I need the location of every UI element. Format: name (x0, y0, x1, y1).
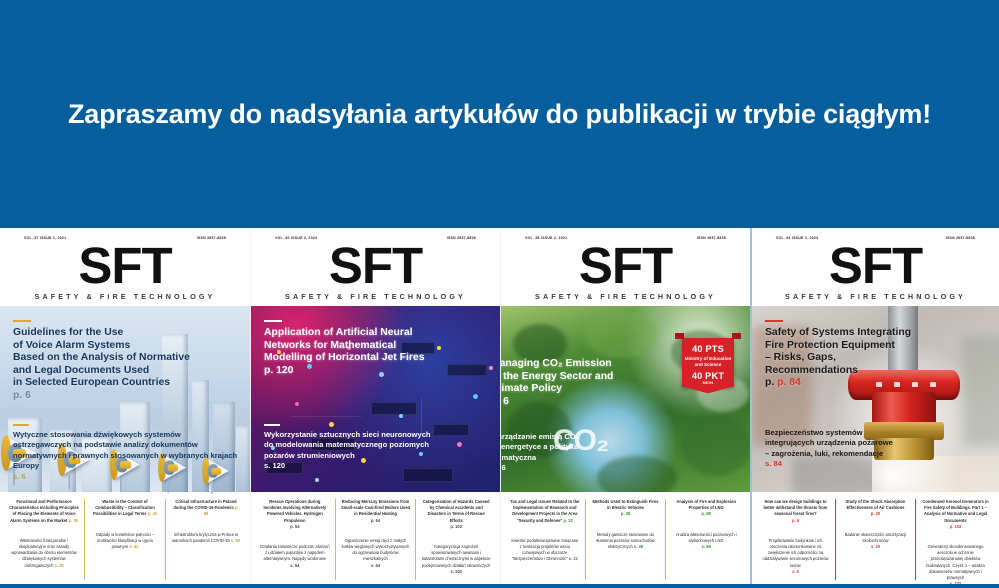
title-page-en: p. 6 (13, 390, 31, 401)
promo-headline: Zapraszamy do nadsyłania artykułów do pu… (68, 99, 931, 130)
title-line: Based on the Analysis of Normative (13, 352, 190, 363)
article-title-en: Critical Infrastructure in Poland during… (173, 499, 236, 510)
cover-hero: CO₂ 40 PTS Ministry of Education and Sci… (501, 306, 750, 494)
cover-article-list: Functional and Performance Characteristi… (0, 492, 250, 584)
article-title-pl: Generatory skondensowanego aerozolu w oc… (926, 544, 984, 580)
subtitle-page-pl: s. 84 (765, 459, 782, 468)
issn-label: ISSN 2657-8808 (697, 236, 726, 240)
cover-title-pl: Wytyczne stosowania dźwiękowych systemów… (13, 424, 250, 482)
volume-label: VOL. 58 ISSUE 2, 2021 (525, 236, 567, 240)
badge-points-pl: 40 PKT (684, 371, 732, 381)
badge-points-en: 40 PTS (684, 344, 732, 354)
title-line: Recommendations (765, 365, 858, 376)
article-entry[interactable]: How can we design buildings to better wi… (756, 499, 835, 580)
article-entry[interactable]: Condensed Aerosol Generators in Fire Saf… (915, 499, 995, 580)
title-page-en: p. 120 (264, 365, 293, 376)
article-title-pl: Projektowanie budynków i ich otoczenia u… (763, 538, 829, 568)
title-line: Application of Artificial Neural (264, 327, 413, 338)
subtitle-line: ostrzegawczych na podstawie analizy doku… (13, 440, 198, 449)
accent-tick-icon (264, 320, 282, 322)
article-title-en: Methods Used to Extinguish Fires in Elec… (593, 499, 659, 510)
subtitle-line: do modelowania matematycznego poziomych (264, 440, 429, 449)
sft-tagline: SAFETY & FIRE TECHNOLOGY (251, 292, 500, 301)
subtitle-line: Zarządzanie emisją CO₂ (501, 432, 579, 441)
cover-hero: Safety of Systems Integrating Fire Prote… (752, 306, 999, 494)
article-entry[interactable]: Methods Used to Extinguish Fires in Elec… (585, 499, 666, 580)
issn-label: ISSN 2657-8808 (946, 236, 975, 240)
subtitle-line: Wytyczne stosowania dźwiękowych systemów (13, 430, 181, 439)
sft-tagline: SAFETY & FIRE TECHNOLOGY (752, 292, 999, 301)
subtitle-line: normatywnych i prawnych stosowanych w wy… (13, 451, 237, 470)
subtitle-page-pl: s. 6 (501, 463, 506, 472)
badge-authority-pl: MEiN (684, 381, 732, 385)
article-title-en: Categorisation of Hazards Caused by Chem… (423, 499, 490, 523)
accent-tick-icon (13, 424, 29, 426)
ribbon-flag-left-icon (675, 333, 684, 339)
volume-label: VOL. 57 ISSUE 1, 2021 (24, 236, 66, 240)
magazine-cover-voice-alarm[interactable]: VOL. 57 ISSUE 1, 2021 ISSN 2657-8808 SFT… (0, 228, 250, 584)
article-entry[interactable]: Waste in the Context of Combustibility –… (84, 499, 165, 580)
article-page-en: p. 64 (371, 518, 380, 523)
accent-tick-icon (765, 320, 783, 322)
magazine-cover-fire-protection[interactable]: VOL. 64 ISSUE 2, 2024 ISSN 2657-8808 SFT… (750, 228, 999, 584)
magazine-cover-co2-emission[interactable]: VOL. 58 ISSUE 2, 2021 ISSN 2657-8808 SFT… (500, 228, 750, 584)
cover-title-pl: Wykorzystanie sztucznych sieci neuronowy… (264, 424, 431, 472)
badge-authority-en: Ministry of Education and Science (684, 356, 732, 367)
article-title-pl: Badanie skuteczności amortyzacji skokoch… (845, 532, 906, 543)
article-page-pl: s. 102 (450, 569, 461, 574)
article-page-pl: s. 22 (569, 556, 578, 561)
article-title-en: Study of the Shock Absorption Effectiven… (846, 499, 906, 510)
sft-tagline: SAFETY & FIRE TECHNOLOGY (501, 292, 750, 301)
article-page-en: p. 102 (450, 524, 462, 529)
masthead: VOL. 57 ISSUE 1, 2021 ISSN 2657-8808 SFT… (0, 228, 250, 306)
cover-title-en: Managing CO₂ Emission in the Energy Sect… (501, 358, 613, 408)
cover-hero: Guidelines for the Use of Voice Alarm Sy… (0, 306, 250, 494)
sft-logo: SFT (251, 241, 500, 291)
article-title-en: Reducing Mercury Emissions from Small-sc… (341, 499, 410, 516)
article-page-en: p. 102 (950, 524, 962, 529)
magazine-cover-strip: VOL. 57 ISSUE 1, 2021 ISSN 2657-8808 SFT… (0, 228, 999, 584)
article-title-pl: Właściwości funkcjonalne i eksploatacyjn… (11, 538, 77, 568)
cover-hero: Application of Artificial Neural Network… (251, 306, 500, 494)
ministry-points-badge: 40 PTS Ministry of Education and Science… (682, 338, 734, 387)
cover-title-en: Guidelines for the Use of Voice Alarm Sy… (13, 320, 190, 403)
article-page-pl: s. 58 (702, 544, 711, 549)
subtitle-page-pl: s. 6 (13, 472, 26, 481)
article-entry[interactable]: Rescue Operations during Incidents Invol… (255, 499, 335, 580)
article-page-pl: s. 38 (634, 544, 643, 549)
article-entry[interactable]: Study of the Shock Absorption Effectiven… (835, 499, 915, 580)
accent-tick-icon (13, 320, 31, 322)
cover-title-en: Application of Artificial Neural Network… (264, 320, 425, 377)
title-page-en: p. 6 (501, 396, 509, 407)
cover-title-pl: Zarządzanie emisją CO₂ w energetyce a po… (501, 432, 579, 474)
article-entry[interactable]: Tax and Legal Issues Related to the Impl… (505, 499, 585, 580)
subtitle-line: pożarów strumieniowych (264, 451, 355, 460)
title-line: Networks for Mathematical (264, 340, 396, 351)
article-title-en: Condensed Aerosol Generators in Fire Saf… (922, 499, 988, 523)
cover-article-list: Tax and Legal Issues Related to the Impl… (501, 492, 750, 584)
article-entry[interactable]: Categorisation of Hazards Caused by Chem… (415, 499, 496, 580)
title-line: in the Energy Sector and (501, 371, 613, 382)
article-page-en: p. 20 (871, 511, 880, 516)
cover-title-pl: Bezpieczeństwo systemów integrujących ur… (765, 428, 893, 470)
title-page-en: p. 84 (777, 377, 801, 388)
article-title-en: Analysis of Fire and Explosion Propertie… (676, 499, 736, 510)
title-line: Climate Policy (501, 383, 562, 394)
article-page-pl: s. 26 (55, 563, 64, 568)
article-page-en: p. 26 (69, 518, 78, 523)
article-page-en: p. 22 (564, 518, 573, 523)
article-page-pl: s. 64 (371, 563, 380, 568)
subtitle-line: Bezpieczeństwo systemów (765, 428, 862, 437)
volume-label: VOL. 64 ISSUE 2, 2024 (776, 236, 818, 240)
masthead: VOL. 64 ISSUE 2, 2024 ISSN 2657-8808 SFT… (752, 228, 999, 306)
article-entry[interactable]: Critical Infrastructure in Poland during… (165, 499, 246, 580)
title-line: in Selected European Countries (13, 377, 170, 388)
title-line: – Risks, Gaps, (765, 352, 836, 363)
subtitle-line: – zagrożenia, luki, rekomendacje (765, 449, 883, 458)
article-entry[interactable]: Reducing Mercury Emissions from Small-sc… (335, 499, 416, 580)
article-entry[interactable]: Analysis of Fire and Explosion Propertie… (665, 499, 746, 580)
cover-article-list: How can we design buildings to better wi… (752, 492, 999, 584)
article-page-pl: s. 6 (792, 569, 799, 574)
article-title-pl: Odpady w kontekście palności – możliwośc… (96, 532, 154, 549)
issn-label: ISSN 2657-8808 (447, 236, 476, 240)
sft-tagline: SAFETY & FIRE TECHNOLOGY (0, 292, 250, 301)
page-root: Zapraszamy do nadsyłania artykułów do pu… (0, 0, 999, 588)
article-page-en: p. 38 (621, 511, 630, 516)
subtitle-page-pl: s. 120 (264, 461, 285, 470)
masthead: VOL. 60 ISSUE 2, 2023 ISSN 2657-8808 SFT… (251, 228, 500, 306)
title-line: Managing CO₂ Emission (501, 358, 612, 369)
article-title-en: How can we design buildings to better wi… (764, 499, 828, 516)
title-line: Safety of Systems Integrating (765, 327, 911, 338)
article-page-en: p. 58 (702, 511, 711, 516)
article-title-pl: Analiza właściwości pożarowych i wybucho… (676, 532, 737, 543)
title-line: and Legal Documents Used (13, 365, 149, 376)
article-title-pl: Działania ratownicze podczas zdarzeń z u… (260, 544, 330, 561)
article-page-pl: s. 20 (871, 544, 880, 549)
cover-title-en: Safety of Systems Integrating Fire Prote… (765, 320, 911, 390)
volume-label: VOL. 60 ISSUE 2, 2023 (275, 236, 317, 240)
subtitle-line: integrujących urządzenia pożarowe (765, 438, 893, 447)
subtitle-line: klimatyczna (501, 453, 536, 462)
article-page-pl: s. 59 (231, 538, 240, 543)
article-title-en: Rescue Operations during Incidents Invol… (264, 499, 327, 523)
article-title-pl: Infrastruktura krytyczna w Polsce w waru… (172, 532, 238, 543)
magazine-cover-neural-networks[interactable]: VOL. 60 ISSUE 2, 2023 ISSN 2657-8808 SFT… (250, 228, 500, 584)
sft-logo: SFT (501, 241, 750, 291)
title-line: Fire Protection Equipment (765, 340, 895, 351)
article-page-en: p. 42 (148, 511, 157, 516)
article-title-pl: Ograniczenie emisji rtęci z małych kotłó… (342, 538, 410, 562)
bottom-accent-rule (0, 584, 999, 588)
article-page-pl: s. 42 (129, 544, 138, 549)
accent-tick-icon (264, 424, 280, 426)
article-page-en: p. 6 (792, 518, 799, 523)
title-line: of Voice Alarm Systems (13, 340, 130, 351)
article-title-en: Waste in the Context of Combustibility –… (93, 499, 155, 516)
subtitle-line: w energetyce a polityka (501, 442, 578, 451)
masthead: VOL. 58 ISSUE 2, 2021 ISSN 2657-8808 SFT… (501, 228, 750, 306)
cover-article-list: Rescue Operations during Incidents Invol… (251, 492, 500, 584)
promo-banner: Zapraszamy do nadsyłania artykułów do pu… (0, 0, 999, 228)
sft-logo: SFT (0, 241, 250, 291)
issn-label: ISSN 2657-8808 (197, 236, 226, 240)
title-line: Guidelines for the Use (13, 327, 123, 338)
article-entry[interactable]: Functional and Performance Characteristi… (4, 499, 84, 580)
article-page-pl: s. 54 (290, 563, 299, 568)
title-line: Modelling of Horizontal Jet Fires (264, 352, 425, 363)
sft-logo: SFT (752, 241, 999, 291)
article-title-pl: Kategoryzacja zagrożeń spowodowanych awa… (422, 544, 491, 568)
article-title-pl: Metody gaśnicze stosowane do tłumienia p… (596, 532, 654, 549)
article-page-en: p. 54 (290, 524, 299, 529)
subtitle-line: Wykorzystanie sztucznych sieci neuronowy… (264, 430, 431, 439)
ribbon-flag-right-icon (732, 333, 741, 339)
